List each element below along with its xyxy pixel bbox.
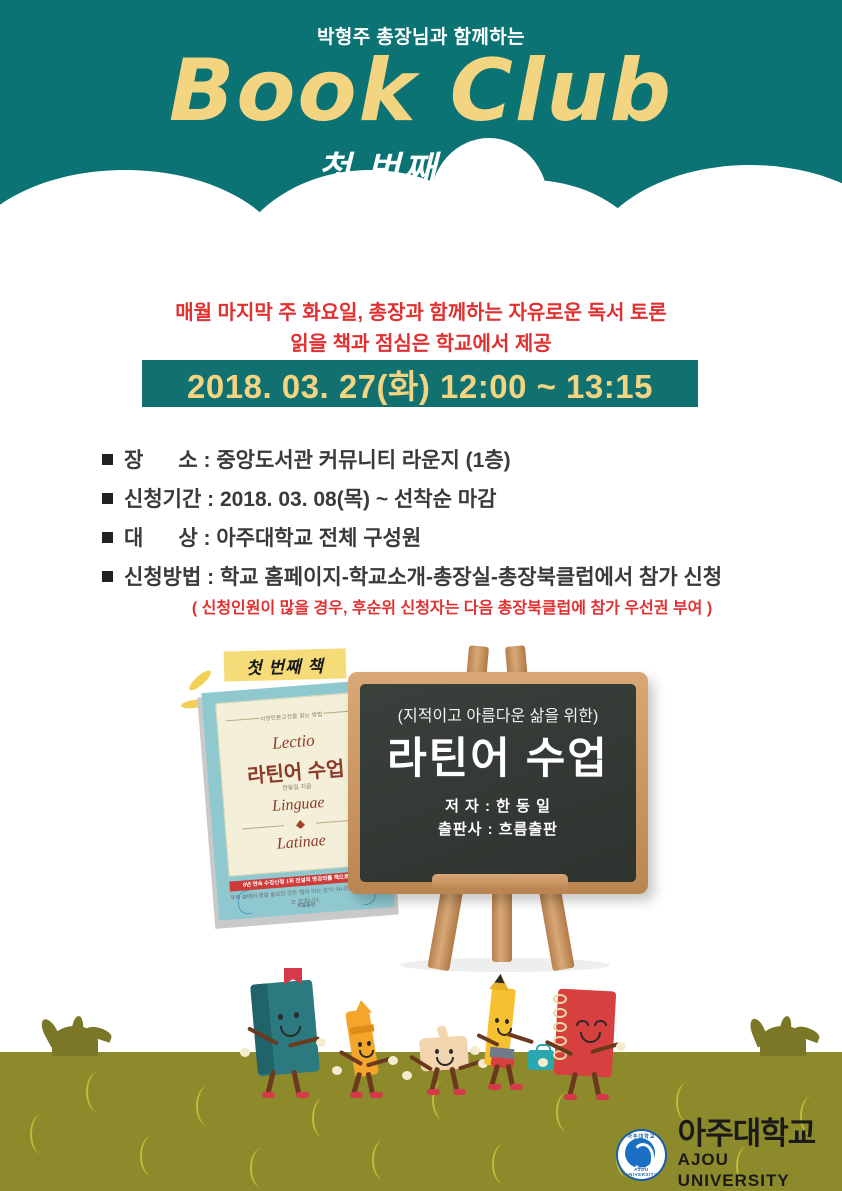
chalkboard-subtitle: (지적이고 아름다운 삶을 위한) (360, 702, 636, 726)
shoe (427, 1089, 440, 1095)
emblem-korean-text: 아주대학교 (618, 1133, 665, 1140)
spiral-ring-icon (553, 1022, 567, 1032)
shoe (564, 1094, 577, 1100)
grass-blade-icon (250, 1148, 274, 1188)
chalkboard: (지적이고 아름다운 삶을 위한) 라틴어 수업 저 자 : 한 동 일 출판사… (360, 684, 636, 882)
eye-icon (449, 1049, 453, 1054)
bullet-square-icon (102, 454, 113, 465)
eye-icon (435, 1049, 439, 1054)
shoe (350, 1092, 363, 1098)
eye-icon (505, 1019, 509, 1024)
spiral-ring-icon (553, 1008, 567, 1018)
pencil-lead-icon (495, 974, 506, 984)
book-rule (242, 825, 284, 829)
first-book-banner-label: 첫 번째 책 (246, 651, 325, 678)
intro-line-1: 매월 마지막 주 화요일, 총장과 함께하는 자유로운 독서 토론 (0, 298, 842, 329)
date-banner-text: 2018. 03. 27(화) 12:00 ~ 13:15 (187, 360, 653, 408)
info-value: 2018. 03. 08(목) ~ 선착순 마감 (220, 483, 496, 513)
info-value: 아주대학교 전체 구성원 (216, 522, 421, 552)
list-item: 신청방법 : 학교 홈페이지-학교소개-총장실-총장북클럽에서 참가 신청 (102, 561, 802, 591)
logo-english: AJOU UNIVERSITY (678, 1149, 842, 1191)
info-value: 중앙도서관 커뮤니티 라운지 (1층) (216, 444, 510, 474)
shoe (370, 1092, 383, 1098)
hand (316, 1038, 326, 1047)
book-top-text: 서양인문고전을 읽는 방법 (217, 706, 365, 726)
eye-icon (278, 1014, 283, 1020)
chalkboard-title: 라틴어 수업 (360, 724, 636, 786)
hand (402, 1071, 412, 1080)
ajou-emblem-icon: 아주대학교 1973 AJOU UNIVERSITY (616, 1129, 667, 1181)
hand (470, 1046, 480, 1055)
page-title: Book Club (0, 48, 842, 134)
bullet-square-icon (102, 532, 113, 543)
intro-line-2: 읽을 책과 점심은 학교에서 제공 (0, 329, 842, 360)
info-list: 장 소 : 중앙도서관 커뮤니티 라운지 (1층) 신청기간 : 2018. 0… (102, 444, 802, 600)
shoe (453, 1089, 466, 1095)
bullet-square-icon (102, 493, 113, 504)
hand (616, 1042, 626, 1051)
chalkboard-author: 저 자 : 한 동 일 (360, 796, 636, 819)
wheat-leaf-icon (187, 668, 214, 693)
shoe (262, 1092, 275, 1098)
grass-blade-icon (492, 1144, 516, 1184)
book-ornament-icon (296, 820, 306, 830)
info-value: 학교 홈페이지-학교소개-총장실-총장북클럽에서 참가 신청 (220, 561, 722, 591)
list-item: 장 소 : 중앙도서관 커뮤니티 라운지 (1층) (102, 444, 802, 474)
easel-tray (432, 874, 568, 890)
date-banner: 2018. 03. 27(화) 12:00 ~ 13:15 (142, 360, 698, 407)
info-key: 신청기간 : (124, 483, 220, 513)
spiral-ring-icon (553, 994, 567, 1004)
shoe (296, 1092, 309, 1098)
cloud-decoration (0, 170, 842, 300)
cloud-base (0, 258, 842, 300)
hand (240, 1048, 250, 1057)
shoe (510, 1084, 523, 1090)
first-book-banner: 첫 번째 책 (224, 648, 347, 681)
grass-blade-icon (312, 1098, 336, 1138)
grass-blade-icon (372, 1140, 396, 1180)
info-key: 신청방법 : (124, 561, 220, 591)
chalkboard-publisher: 출판사 : 흐름출판 (360, 819, 636, 842)
university-logo: 아주대학교 1973 AJOU UNIVERSITY 아주대학교 AJOU UN… (616, 1118, 842, 1191)
grass-blade-icon (140, 1136, 164, 1176)
chalkboard-meta: 저 자 : 한 동 일 출판사 : 흐름출판 (360, 796, 636, 841)
hand (388, 1056, 398, 1065)
grass-blade-icon (196, 1086, 220, 1126)
chalkboard-frame: (지적이고 아름다운 삶을 위한) 라틴어 수업 저 자 : 한 동 일 출판사… (348, 672, 648, 894)
list-item: 신청기간 : 2018. 03. 08(목) ~ 선착순 마감 (102, 483, 802, 513)
grass-blade-icon (86, 1072, 110, 1112)
eye-icon (358, 1042, 362, 1047)
shoe (488, 1084, 501, 1090)
bullet-square-icon (102, 571, 113, 582)
info-key: 장 소 : (124, 444, 216, 474)
hand (538, 1058, 548, 1067)
info-key: 대 상 : (124, 522, 216, 552)
eye-icon (367, 1041, 371, 1046)
intro-text: 매월 마지막 주 화요일, 총장과 함께하는 자유로운 독서 토론 읽을 책과 … (0, 298, 842, 360)
eye-icon (576, 1020, 589, 1026)
eye-icon (294, 1012, 299, 1018)
logo-text-block: 아주대학교 AJOU UNIVERSITY (678, 1118, 842, 1191)
logo-korean: 아주대학교 (678, 1118, 842, 1149)
info-note: ( 신청인원이 많을 경우, 후순위 신청자는 다음 총장북클럽에 참가 우선권… (102, 594, 802, 618)
poster-header: 박형주 총장님과 함께하는 Book Club 첫 번째 만남 (0, 0, 842, 300)
shoe (596, 1094, 609, 1100)
hand (332, 1066, 342, 1075)
eye-icon (495, 1018, 499, 1023)
eye-icon (594, 1020, 607, 1026)
list-item: 대 상 : 아주대학교 전체 구성원 (102, 522, 802, 552)
poster: 박형주 총장님과 함께하는 Book Club 첫 번째 만남 매월 마지막 주… (0, 0, 842, 1191)
emblem-english-text: AJOU UNIVERSITY (618, 1167, 665, 1177)
grass-blade-icon (30, 1114, 54, 1154)
